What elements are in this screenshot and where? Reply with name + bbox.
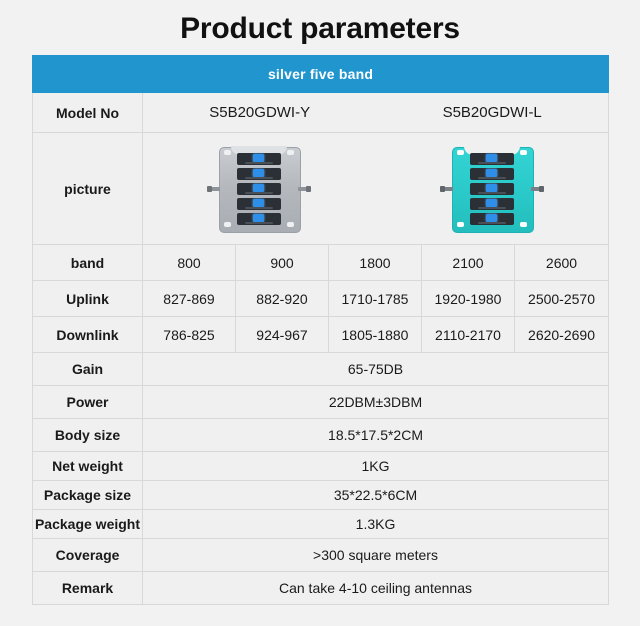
row-value-coverage: >300 square meters — [143, 539, 609, 572]
table-row-body-size: Body size 18.5*17.5*2CM — [33, 419, 609, 452]
row-label-uplink: Uplink — [33, 281, 143, 317]
screw-icon — [520, 150, 527, 155]
band-cell-900: 900 — [236, 245, 329, 281]
screw-icon — [457, 150, 464, 155]
screw-icon — [287, 150, 294, 155]
silver-device-led-panels — [237, 153, 281, 225]
uplink-cell-800: 827-869 — [143, 281, 236, 317]
uplink-cell-900: 882-920 — [236, 281, 329, 317]
band-cell-1800: 1800 — [329, 245, 422, 281]
spec-table: silver five band Model No S5B20GDWI-Y S5… — [32, 55, 609, 605]
row-value-net-weight: 1KG — [143, 452, 609, 481]
screw-icon — [224, 222, 231, 227]
screw-icon — [224, 150, 231, 155]
table-row-downlink: Downlink 786-825 924-967 1805-1880 2110-… — [33, 317, 609, 353]
led-panel — [237, 153, 281, 165]
led-panel — [237, 183, 281, 195]
table-row-package-weight: Package weight 1.3KG — [33, 510, 609, 539]
row-value-remark: Can take 4-10 ceiling antennas — [143, 572, 609, 605]
uplink-cell-2600: 2500-2570 — [515, 281, 609, 317]
table-row-coverage: Coverage >300 square meters — [33, 539, 609, 572]
silver-device-image — [207, 141, 311, 237]
row-value-picture — [143, 133, 609, 245]
led-panel — [470, 183, 514, 195]
row-value-package-weight: 1.3KG — [143, 510, 609, 539]
band-cell-2100: 2100 — [422, 245, 515, 281]
downlink-cell-900: 924-967 — [236, 317, 329, 353]
row-label-package-size: Package size — [33, 481, 143, 510]
screw-icon — [287, 222, 294, 227]
uplink-cell-1800: 1710-1785 — [329, 281, 422, 317]
page-title: Product parameters — [0, 0, 640, 47]
uplink-cell-2100: 1920-1980 — [422, 281, 515, 317]
spec-table-container: silver five band Model No S5B20GDWI-Y S5… — [32, 55, 608, 605]
downlink-cell-800: 786-825 — [143, 317, 236, 353]
row-label-model-no: Model No — [33, 93, 143, 133]
row-label-band: band — [33, 245, 143, 281]
led-panel — [470, 213, 514, 225]
row-label-body-size: Body size — [33, 419, 143, 452]
antenna-connector-icon — [531, 186, 544, 192]
screw-icon — [457, 222, 464, 227]
antenna-connector-icon — [207, 186, 220, 192]
table-row-power: Power 22DBM±3DBM — [33, 386, 609, 419]
led-panel — [470, 153, 514, 165]
row-label-picture: picture — [33, 133, 143, 245]
row-value-model-no: S5B20GDWI-Y S5B20GDWI-L — [143, 93, 609, 133]
band-cell-2600: 2600 — [515, 245, 609, 281]
led-panel — [470, 198, 514, 210]
row-label-gain: Gain — [33, 353, 143, 386]
row-label-power: Power — [33, 386, 143, 419]
row-label-coverage: Coverage — [33, 539, 143, 572]
antenna-connector-icon — [440, 186, 453, 192]
downlink-cell-2100: 2110-2170 — [422, 317, 515, 353]
table-row-remark: Remark Can take 4-10 ceiling antennas — [33, 572, 609, 605]
model-no-value-cyan: S5B20GDWI-L — [443, 104, 542, 121]
led-panel — [237, 198, 281, 210]
row-value-power: 22DBM±3DBM — [143, 386, 609, 419]
table-row-package-size: Package size 35*22.5*6CM — [33, 481, 609, 510]
led-panel — [237, 168, 281, 180]
model-no-value-silver: S5B20GDWI-Y — [209, 104, 310, 121]
table-row-uplink: Uplink 827-869 882-920 1710-1785 1920-19… — [33, 281, 609, 317]
led-panel — [470, 168, 514, 180]
antenna-connector-icon — [298, 186, 311, 192]
table-row-picture: picture — [33, 133, 609, 245]
table-row-net-weight: Net weight 1KG — [33, 452, 609, 481]
cyan-device-led-panels — [470, 153, 514, 225]
cyan-device-image — [440, 141, 544, 237]
row-label-remark: Remark — [33, 572, 143, 605]
downlink-cell-2600: 2620-2690 — [515, 317, 609, 353]
table-row-band: band 800 900 1800 2100 2600 — [33, 245, 609, 281]
row-value-body-size: 18.5*17.5*2CM — [143, 419, 609, 452]
led-panel — [237, 213, 281, 225]
downlink-cell-1800: 1805-1880 — [329, 317, 422, 353]
row-label-package-weight: Package weight — [33, 510, 143, 539]
banner-title: silver five band — [33, 56, 609, 93]
row-value-package-size: 35*22.5*6CM — [143, 481, 609, 510]
band-cell-800: 800 — [143, 245, 236, 281]
row-value-gain: 65-75DB — [143, 353, 609, 386]
row-label-net-weight: Net weight — [33, 452, 143, 481]
table-row-model: Model No S5B20GDWI-Y S5B20GDWI-L — [33, 93, 609, 133]
row-label-downlink: Downlink — [33, 317, 143, 353]
table-row-gain: Gain 65-75DB — [33, 353, 609, 386]
banner-row: silver five band — [33, 56, 609, 93]
screw-icon — [520, 222, 527, 227]
product-parameters-page: Product parameters silver five band Mode… — [0, 0, 640, 605]
